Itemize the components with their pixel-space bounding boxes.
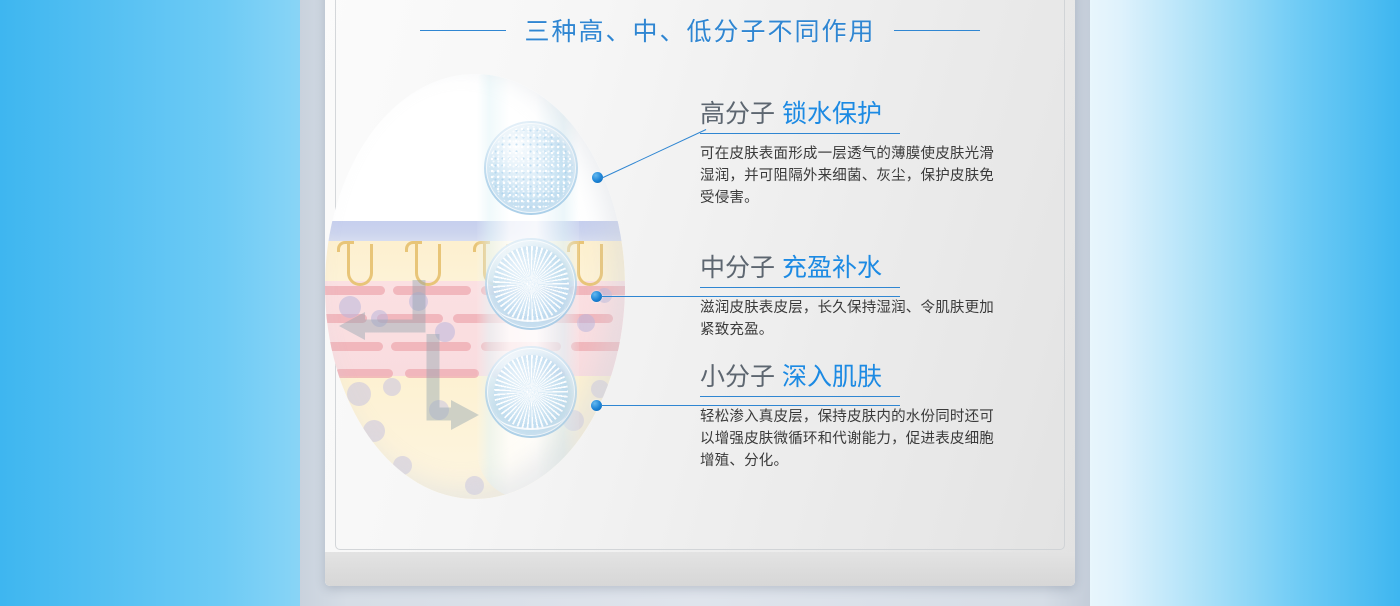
page-title: 三种高、中、低分子不同作用 xyxy=(524,12,875,48)
feature-body-text: 轻松渗入真皮层，保持皮肤内的水份同时还可以增强皮肤微循环和代谢能力，促进表皮细胞… xyxy=(700,406,1008,472)
feature-heading: 中分子 充盈补水 xyxy=(700,253,1030,283)
feature-block-medium-molecular: 中分子 充盈补水 滋润皮肤表皮层，长久保持湿润、令肌肤更加紧致充盈。 xyxy=(700,253,1030,341)
feature-heading-rule xyxy=(700,287,900,288)
cell-dot xyxy=(577,314,595,332)
feature-label-prefix: 中分子 xyxy=(700,254,775,282)
high-molecular-droplet xyxy=(484,121,578,215)
card-bottom-band xyxy=(325,552,1075,586)
content-card: 三种高、中、低分子不同作用 xyxy=(325,0,1075,586)
feature-heading: 小分子 深入肌肤 xyxy=(700,362,1030,392)
droplet-highlight-arc xyxy=(496,397,566,430)
cell-dot xyxy=(591,380,609,398)
section-title: 三种高、中、低分子不同作用 xyxy=(325,12,1075,48)
title-rule-left xyxy=(420,30,506,31)
hair-follicle-icon xyxy=(577,244,603,286)
droplet-rim xyxy=(486,123,576,213)
title-rule-right xyxy=(894,30,980,31)
feature-label-accent: 深入肌肤 xyxy=(782,363,882,391)
feature-body-text: 滋润皮肤表皮层，长久保持湿润、令肌肤更加紧致充盈。 xyxy=(700,297,1008,341)
skin-cross-section-illustration xyxy=(325,74,625,499)
feature-body-text: 可在皮肤表面形成一层透气的薄膜使皮肤光滑湿润，并可阻隔外来细菌、灰尘，保护皮肤免… xyxy=(700,143,1008,209)
feature-block-low-molecular: 小分子 深入肌肤 轻松渗入真皮层，保持皮肤内的水份同时还可以增强皮肤微循环和代谢… xyxy=(700,362,1030,472)
feature-heading-rule xyxy=(700,396,900,397)
feature-block-high-molecular: 高分子 锁水保护 可在皮肤表面形成一层透气的薄膜使皮肤光滑湿润，并可阻隔外来细菌… xyxy=(700,99,1030,209)
cell-dot xyxy=(577,456,597,476)
skin-layer-surface xyxy=(325,221,625,241)
absorption-flow-arrows xyxy=(325,274,495,474)
low-molecular-droplet xyxy=(485,346,577,438)
feature-heading-rule xyxy=(700,133,900,134)
feature-label-accent: 锁水保护 xyxy=(782,100,882,128)
background-right-gradient xyxy=(1070,0,1400,606)
feature-label-prefix: 高分子 xyxy=(700,100,775,128)
medium-molecular-droplet xyxy=(485,238,577,330)
feature-label-accent: 充盈补水 xyxy=(782,254,882,282)
droplet-highlight-arc xyxy=(496,289,566,322)
feature-label-prefix: 小分子 xyxy=(700,363,775,391)
blood-vessel-dash xyxy=(571,342,625,351)
cell-dot xyxy=(465,476,484,495)
feature-heading: 高分子 锁水保护 xyxy=(700,99,1030,129)
